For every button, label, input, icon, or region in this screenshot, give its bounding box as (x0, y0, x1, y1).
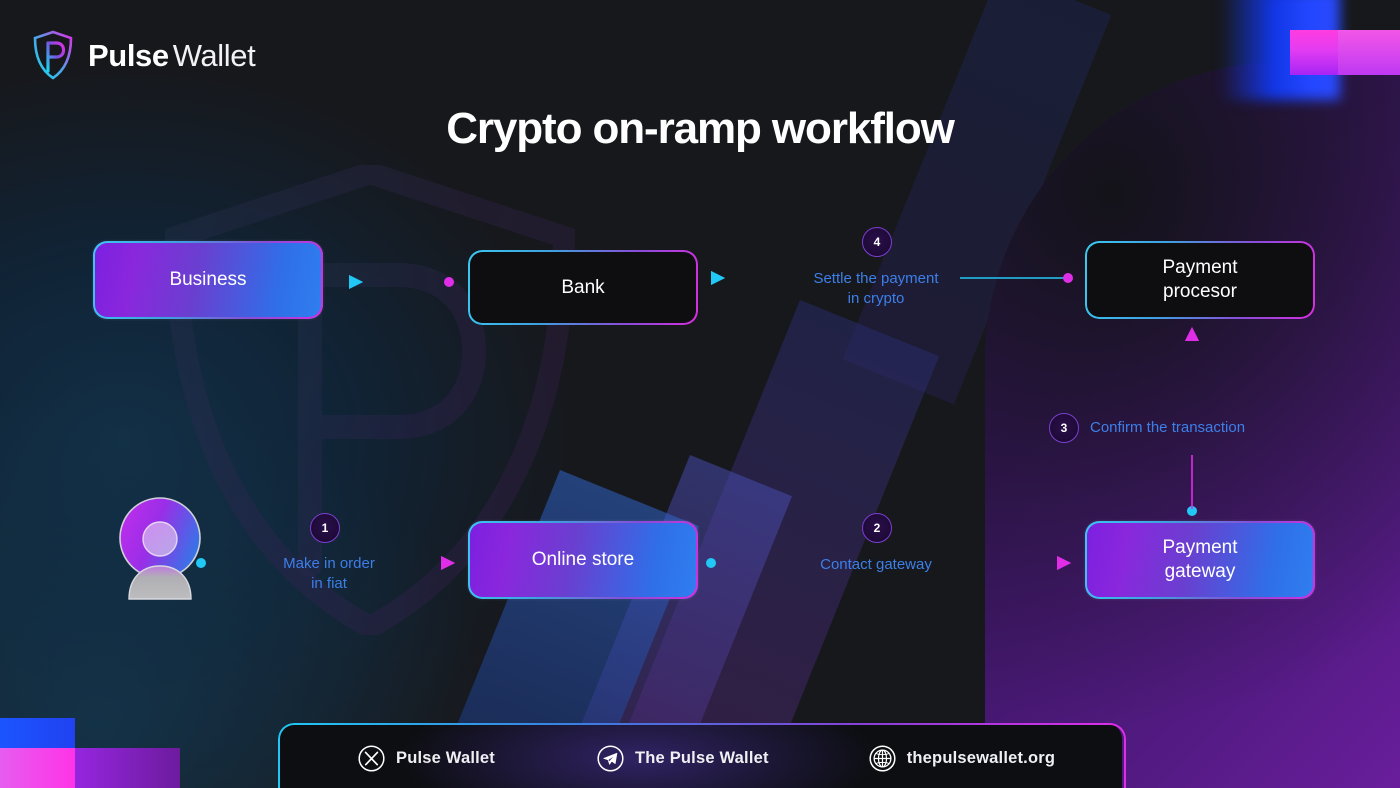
footer-link-x[interactable]: Pulse Wallet (358, 745, 495, 772)
footer-link-telegram[interactable]: The Pulse Wallet (597, 745, 769, 772)
step-label-1: Make in order in fiat (264, 554, 394, 595)
footer-links: Pulse Wallet The Pulse Wallet thepulsewa… (278, 723, 1122, 788)
connector-layer (0, 0, 1400, 788)
infographic-canvas: Pulse Wallet Crypto on-ramp workflow (0, 0, 1400, 788)
footer-link-telegram-label: The Pulse Wallet (635, 749, 769, 768)
telegram-icon (597, 745, 624, 772)
x-twitter-icon (358, 745, 385, 772)
node-business[interactable]: Business (93, 241, 323, 319)
node-online-store-label: Online store (532, 548, 634, 572)
node-bank[interactable]: Bank (468, 250, 698, 325)
step-badge-3: 3 (1049, 413, 1079, 443)
connector-bank-to-business (352, 277, 454, 287)
step-badge-1: 1 (310, 513, 340, 543)
node-payment-processor-label: Payment procesor (1163, 256, 1238, 304)
step-badge-4: 4 (862, 227, 892, 257)
node-payment-processor[interactable]: Payment procesor (1085, 241, 1315, 319)
node-payment-gateway[interactable]: Payment gateway (1085, 521, 1315, 599)
node-online-store[interactable]: Online store (468, 521, 698, 599)
globe-icon (869, 745, 896, 772)
footer-link-x-label: Pulse Wallet (396, 749, 495, 768)
customer-avatar[interactable] (118, 495, 202, 600)
node-bank-label: Bank (561, 276, 604, 300)
footer-link-website[interactable]: thepulsewallet.org (869, 745, 1055, 772)
node-payment-gateway-label: Payment gateway (1163, 536, 1238, 584)
footer-link-website-label: thepulsewallet.org (907, 749, 1055, 768)
step-label-2: Contact gateway (788, 555, 964, 575)
node-business-label: Business (169, 268, 246, 292)
step-label-3: Confirm the transaction (1090, 418, 1306, 438)
step-label-4: Settle the payment in crypto (786, 269, 966, 310)
step-badge-2: 2 (862, 513, 892, 543)
